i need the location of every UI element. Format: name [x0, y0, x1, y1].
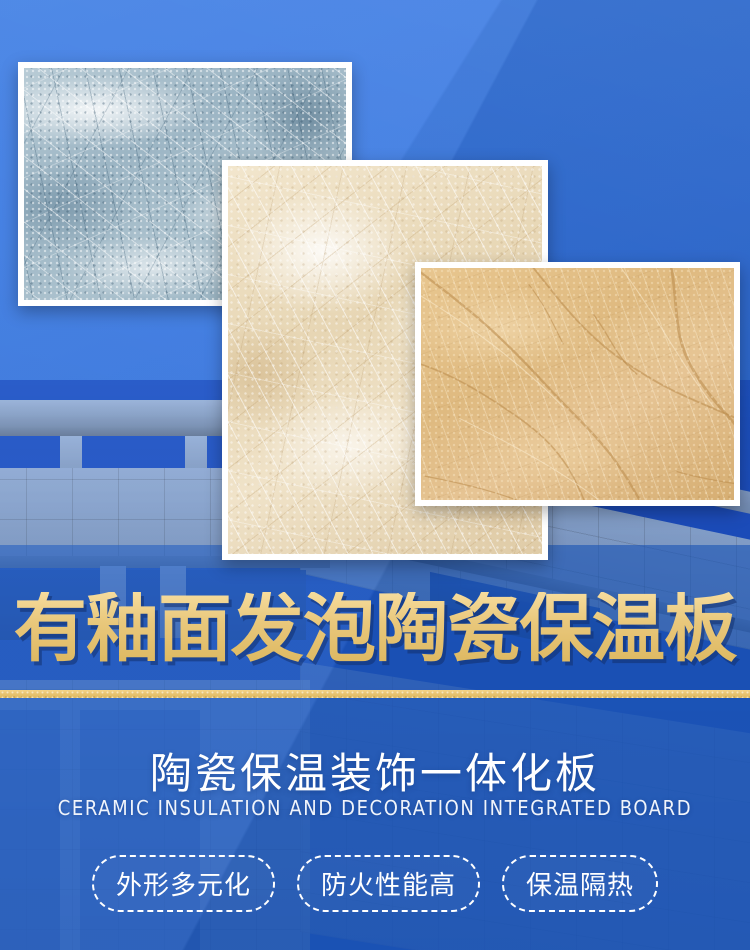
subtitle-chinese: 陶瓷保温装饰一体化板 [0, 740, 750, 801]
product-poster: 有釉面发泡陶瓷保温板 陶瓷保温装饰一体化板 CERAMIC INSULATION… [0, 0, 750, 950]
subtitle-english: CERAMIC INSULATION AND DECORATION INTEGR… [0, 796, 750, 820]
tile-speckle [421, 268, 734, 500]
feature-tag-2[interactable]: 防火性能高 [297, 855, 480, 912]
page-title: 有釉面发泡陶瓷保温板 [4, 592, 747, 666]
feature-tag-1[interactable]: 外形多元化 [92, 855, 275, 912]
feature-tag-list: 外形多元化 防火性能高 保温隔热 [0, 855, 750, 912]
sample-tile-tan-marble[interactable] [415, 262, 740, 506]
feature-tag-3[interactable]: 保温隔热 [502, 855, 658, 912]
gold-divider [0, 690, 750, 698]
